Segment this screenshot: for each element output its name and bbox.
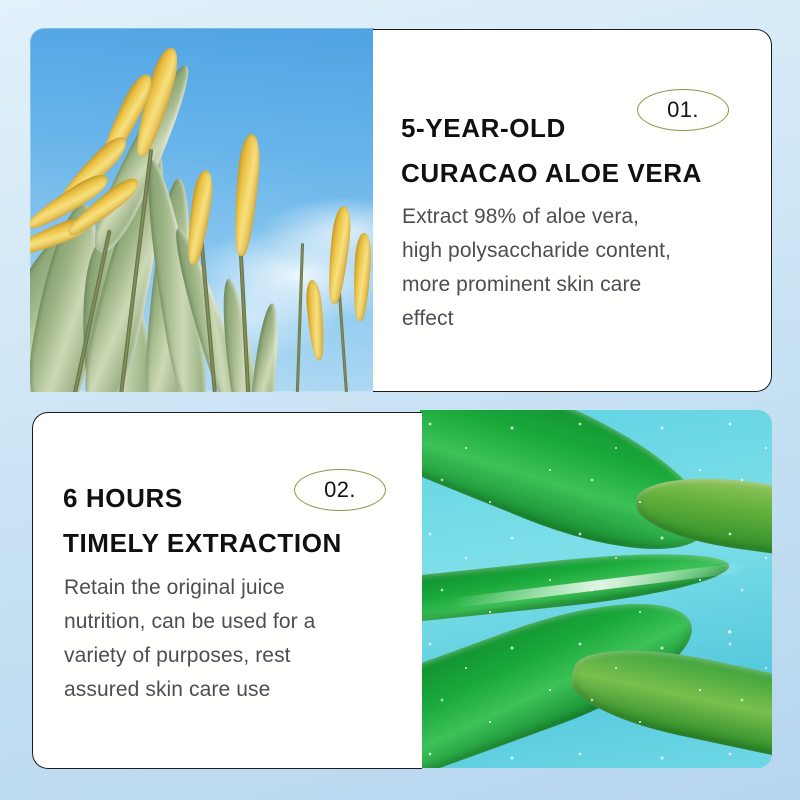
card-1-body-line-3: more prominent skin care bbox=[402, 268, 752, 302]
card-1-body-line-1: Extract 98% of aloe vera, bbox=[402, 200, 752, 234]
card-2-body: Retain the original juice nutrition, can… bbox=[64, 571, 394, 707]
card-1-body-line-4: effect bbox=[402, 302, 752, 336]
card-2-heading-line-1: 6 HOURS bbox=[63, 476, 342, 521]
card-2-body-line-2: nutrition, can be used for a bbox=[64, 605, 394, 639]
card-2-heading-line-2: TIMELY EXTRACTION bbox=[63, 521, 342, 566]
aloe-field-photo bbox=[30, 28, 374, 392]
card-1-heading-line-1: 5-YEAR-OLD bbox=[401, 106, 702, 151]
card-2-body-line-3: variety of purposes, rest bbox=[64, 639, 394, 673]
card-1-headings: 5-YEAR-OLD CURACAO ALOE VERA bbox=[401, 106, 702, 195]
info-card-1: 01. 5-YEAR-OLD CURACAO ALOE VERA Extract… bbox=[373, 29, 772, 392]
card-2-body-line-4: assured skin care use bbox=[64, 673, 394, 707]
aloe-leaves-photo bbox=[420, 410, 772, 768]
info-card-2: 02. 6 HOURS TIMELY EXTRACTION Retain the… bbox=[32, 412, 422, 769]
card-1-body: Extract 98% of aloe vera, high polysacch… bbox=[402, 200, 752, 336]
infographic-stage: 01. 5-YEAR-OLD CURACAO ALOE VERA Extract… bbox=[0, 0, 800, 800]
card-1-body-line-2: high polysaccharide content, bbox=[402, 234, 752, 268]
card-1-heading-line-2: CURACAO ALOE VERA bbox=[401, 151, 702, 196]
card-2-body-line-1: Retain the original juice bbox=[64, 571, 394, 605]
card-2-headings: 6 HOURS TIMELY EXTRACTION bbox=[63, 476, 342, 565]
